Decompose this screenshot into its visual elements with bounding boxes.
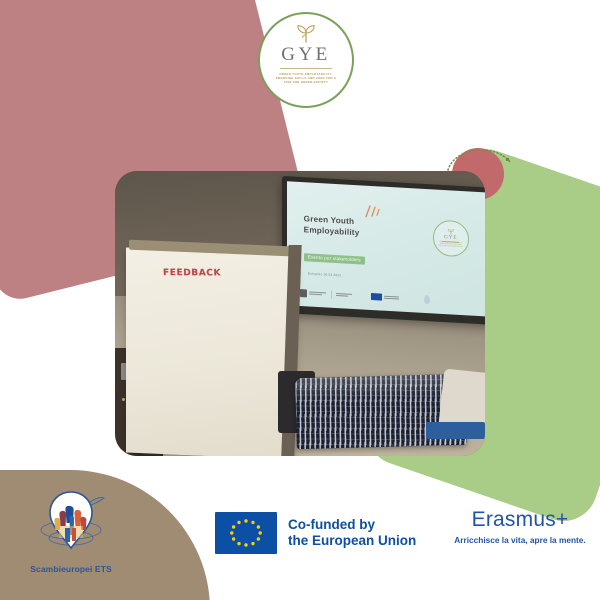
slide-footer-divider (330, 291, 331, 299)
scambieuropei-logo: Scambieuropei ETS (16, 486, 126, 586)
partner-text-lines (336, 294, 352, 298)
gye-logo: GYE GREEN YOUTH EMPLOYABILITY: EMERGING … (258, 12, 354, 108)
slide-gye-badge: GYE GREEN YOUTH EMPLOYABILITY EMERGING S… (432, 220, 468, 258)
slide-eu-logo (371, 293, 399, 302)
partner-mark-icon (299, 289, 306, 297)
eu-flag-icon (371, 293, 382, 301)
eu-cofunded-line2: the European Union (288, 533, 416, 549)
slide-partner-logo-2 (336, 294, 352, 298)
slide-scambieuropei-pin-icon (424, 296, 430, 305)
slide-footer-logos (299, 286, 478, 310)
eu-cofunded-line1: Co-funded by (288, 517, 416, 533)
flipchart-board: FEEDBACK (126, 247, 293, 456)
conference-room-photo: Green Youth Employability Evento per sta… (115, 171, 485, 456)
scambieuropei-name: Scambieuropei ETS (30, 564, 112, 574)
sprout-leaf-icon (295, 23, 317, 43)
gye-logo-wordmark: GYE (281, 45, 331, 64)
eu-stars-icon (215, 512, 277, 554)
slide-date: Bologna | 30.03.2023 (307, 272, 340, 278)
erasmus-plus-tagline: Arricchisce la vita, apre la mente. (450, 535, 590, 545)
slide-subtitle: Evento per stakeholders (303, 253, 364, 265)
eu-cofunded-text: Co-funded by the European Union (288, 517, 416, 550)
slide-partner-logo-1 (299, 289, 325, 298)
gye-logo-divider (280, 68, 332, 69)
partner-text-lines (308, 292, 325, 296)
slide-title-line2: Employability (303, 225, 359, 238)
photo-blue-item (426, 422, 485, 439)
green-polygon-shape-2 (500, 300, 600, 470)
poster-canvas: GYE GREEN YOUTH EMPLOYABILITY: EMERGING … (0, 0, 600, 600)
slide-badge-tagline: GREEN YOUTH EMPLOYABILITY EMERGING SKILL… (438, 243, 463, 250)
eu-cofunded-logo: Co-funded by the European Union (215, 512, 416, 554)
eu-flag-icon (215, 512, 277, 554)
flipchart-feedback-text: FEEDBACK (163, 268, 221, 278)
photo-cabinet-dot (122, 398, 125, 401)
projection-screen: Green Youth Employability Evento per sta… (282, 176, 486, 325)
sparkle-decoration-icon (362, 204, 380, 221)
erasmus-plus-logo: Erasmus+ Arricchisce la vita, apre la me… (450, 508, 590, 545)
erasmus-plus-wordmark: Erasmus+ (450, 508, 590, 532)
gye-logo-tagline: GREEN YOUTH EMPLOYABILITY: EMERGING SKIL… (275, 72, 337, 84)
eu-text-lines (384, 296, 399, 300)
projected-slide: Green Youth Employability Evento per sta… (287, 182, 485, 317)
location-pin-hands-icon (32, 486, 110, 562)
slide-title: Green Youth Employability (303, 215, 359, 239)
